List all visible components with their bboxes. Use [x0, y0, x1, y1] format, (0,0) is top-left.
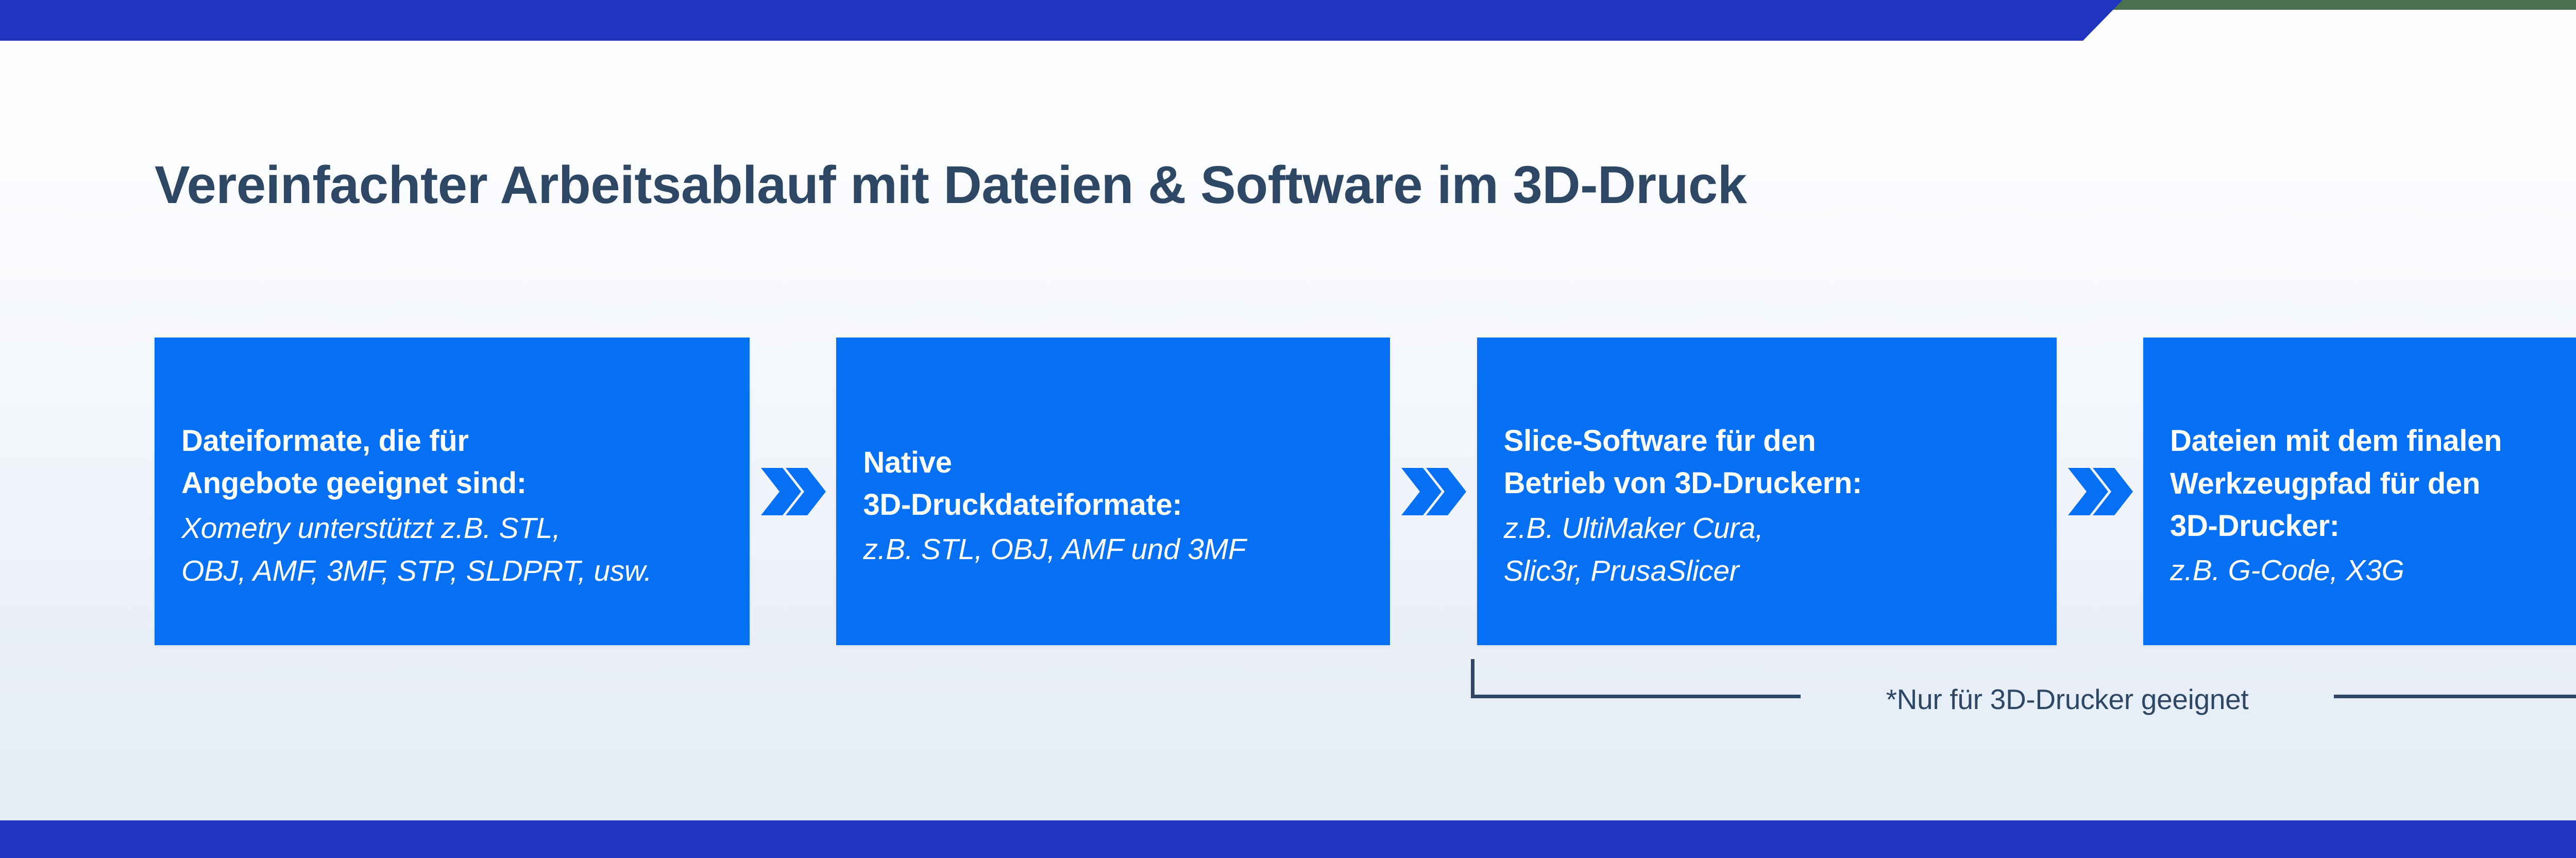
step-1-body-line-2: OBJ, AMF, 3MF, STP, SLDPRT, usw. [181, 550, 723, 593]
step-1-heading: Dateiformate, die für Angebote geeignet … [181, 420, 723, 505]
step-2-body-line-1: z.B. STL, OBJ, AMF und 3MF [863, 528, 1363, 571]
top-green-accent-strip [2056, 0, 2576, 10]
step-1-heading-line-1: Dateiformate, die für [181, 420, 723, 462]
step-4-body-line-1: z.B. G-Code, X3G [2170, 549, 2576, 592]
bracket-tick-left [1471, 659, 1475, 698]
workflow-step-1: Dateiformate, die für Angebote geeignet … [155, 338, 750, 645]
step-4-heading-line-1: Dateien mit dem finalen [2170, 420, 2576, 462]
step-3-body-line-1: z.B. UltiMaker Cura, [1504, 507, 2030, 550]
infographic-canvas: Vereinfachter Arbeitsablauf mit Dateien … [0, 0, 2576, 858]
footnote-bracket: *Nur für 3D-Drucker geeignet [1471, 657, 2576, 719]
step-4-heading: Dateien mit dem finalen Werkzeugpfad für… [2170, 420, 2576, 547]
step-1-heading-line-2: Angebote geeignet sind: [181, 462, 723, 504]
bracket-line-right [2334, 695, 2576, 698]
workflow-step-2: Native 3D-Druckdateiformate: z.B. STL, O… [836, 338, 1390, 645]
arrow-separator-1 [750, 338, 836, 645]
arrow-separator-2 [1390, 338, 1477, 645]
step-2-heading: Native 3D-Druckdateiformate: [863, 442, 1363, 527]
step-1-body-line-1: Xometry unterstützt z.B. STL, [181, 507, 723, 550]
top-blue-banner [0, 0, 2123, 41]
workflow-step-3: Slice-Software für den Betrieb von 3D-Dr… [1477, 338, 2057, 645]
step-3-heading: Slice-Software für den Betrieb von 3D-Dr… [1504, 420, 2030, 505]
step-3-body-line-2: Slic3r, PrusaSlicer [1504, 550, 2030, 593]
step-4-body: z.B. G-Code, X3G [2170, 549, 2576, 592]
step-4-heading-line-3: 3D-Drucker: [2170, 505, 2576, 547]
step-4-heading-line-2: Werkzeugpfad für den [2170, 463, 2576, 505]
step-2-heading-line-2: 3D-Druckdateiformate: [863, 484, 1363, 526]
step-2-body: z.B. STL, OBJ, AMF und 3MF [863, 528, 1363, 571]
workflow-row: Dateiformate, die für Angebote geeignet … [155, 338, 2576, 645]
double-chevron-right-icon [2067, 465, 2133, 518]
step-1-body: Xometry unterstützt z.B. STL, OBJ, AMF, … [181, 507, 723, 593]
step-3-body: z.B. UltiMaker Cura, Slic3r, PrusaSlicer [1504, 507, 2030, 593]
step-2-heading-line-1: Native [863, 442, 1363, 484]
step-3-heading-line-2: Betrieb von 3D-Druckern: [1504, 462, 2030, 504]
step-3-heading-line-1: Slice-Software für den [1504, 420, 2030, 462]
workflow-step-4: Dateien mit dem finalen Werkzeugpfad für… [2143, 338, 2576, 645]
arrow-separator-3 [2057, 338, 2143, 645]
bracket-line-left [1471, 695, 1801, 698]
footnote-label: *Nur für 3D-Drucker geeignet [1801, 683, 2334, 716]
double-chevron-right-icon [760, 465, 826, 518]
page-title: Vereinfachter Arbeitsablauf mit Dateien … [155, 155, 2576, 215]
double-chevron-right-icon [1400, 465, 1466, 518]
bottom-blue-banner [0, 820, 2576, 858]
